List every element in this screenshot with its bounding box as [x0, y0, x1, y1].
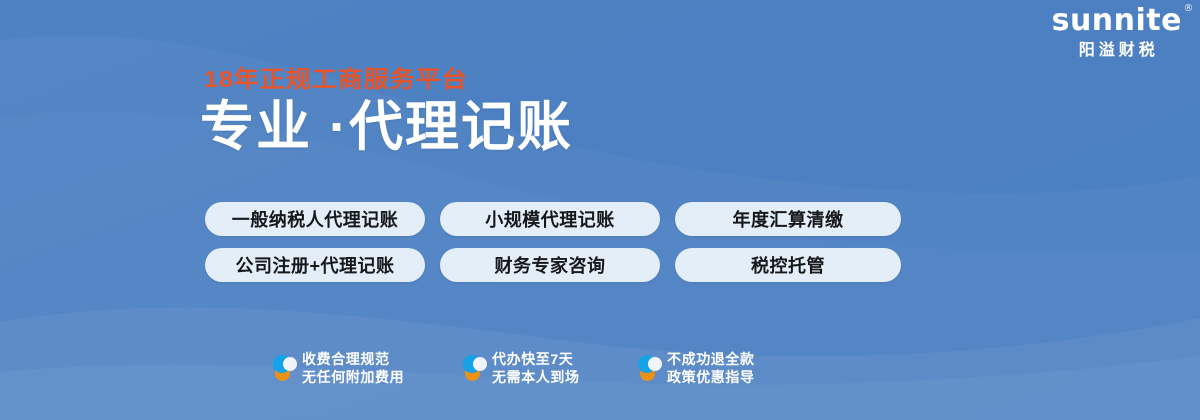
feature-item: 代办快至7天 无需本人到场: [462, 350, 637, 387]
promo-banner: sunnite ® 阳溢财税 18年正规工商服务平台 专业 ·代理记账 一般纳税…: [0, 0, 1200, 420]
service-pill[interactable]: 公司注册+代理记账: [205, 248, 425, 282]
service-pill-label: 一般纳税人代理记账: [232, 206, 399, 232]
feature-text: 不成功退全款 政策优惠指导: [667, 350, 755, 387]
brand-logo[interactable]: sunnite ® 阳溢财税: [1052, 6, 1182, 59]
page-title: 专业 ·代理记账: [200, 99, 573, 156]
feature-line-1: 收费合理规范: [302, 350, 404, 368]
dual-circle-icon-highlight: [283, 357, 297, 371]
feature-item: 收费合理规范 无任何附加费用: [272, 350, 462, 387]
feature-text: 收费合理规范 无任何附加费用: [302, 350, 404, 387]
dual-circle-icon-highlight: [473, 357, 487, 371]
service-pill-grid: 一般纳税人代理记账 小规模代理记账 年度汇算清缴 公司注册+代理记账 财务专家咨…: [205, 202, 901, 282]
logo-chinese-name: 阳溢财税: [1052, 43, 1182, 59]
feature-line-2: 政策优惠指导: [667, 368, 755, 386]
service-pill-label: 小规模代理记账: [485, 206, 615, 232]
dual-circle-icon: [462, 353, 484, 383]
logo-wordmark-text: sunnite: [1052, 3, 1182, 38]
feature-line-2: 无需本人到场: [492, 368, 580, 386]
service-pill-label: 财务专家咨询: [495, 252, 606, 278]
hero-eyebrow: 18年正规工商服务平台: [204, 68, 573, 92]
logo-wordmark: sunnite ®: [1052, 6, 1182, 36]
service-pill[interactable]: 税控托管: [675, 248, 901, 282]
feature-line-1: 代办快至7天: [492, 350, 580, 368]
dual-circle-icon: [637, 353, 659, 383]
feature-strip: 收费合理规范 无任何附加费用 代办快至7天 无需本人到场 不成功退全款: [272, 350, 812, 387]
service-pill-label: 公司注册+代理记账: [235, 252, 394, 278]
service-pill[interactable]: 财务专家咨询: [440, 248, 660, 282]
service-pill[interactable]: 年度汇算清缴: [675, 202, 901, 236]
dual-circle-icon: [272, 353, 294, 383]
registered-trademark-icon: ®: [1184, 4, 1195, 14]
service-pill-label: 年度汇算清缴: [733, 206, 844, 232]
feature-line-2: 无任何附加费用: [302, 368, 404, 386]
feature-item: 不成功退全款 政策优惠指导: [637, 350, 812, 387]
service-pill-label: 税控托管: [751, 252, 825, 278]
hero-copy: 18年正规工商服务平台 专业 ·代理记账: [200, 68, 573, 156]
feature-line-1: 不成功退全款: [667, 350, 755, 368]
service-pill[interactable]: 小规模代理记账: [440, 202, 660, 236]
service-pill[interactable]: 一般纳税人代理记账: [205, 202, 425, 236]
dual-circle-icon-highlight: [648, 357, 662, 371]
feature-text: 代办快至7天 无需本人到场: [492, 350, 580, 387]
